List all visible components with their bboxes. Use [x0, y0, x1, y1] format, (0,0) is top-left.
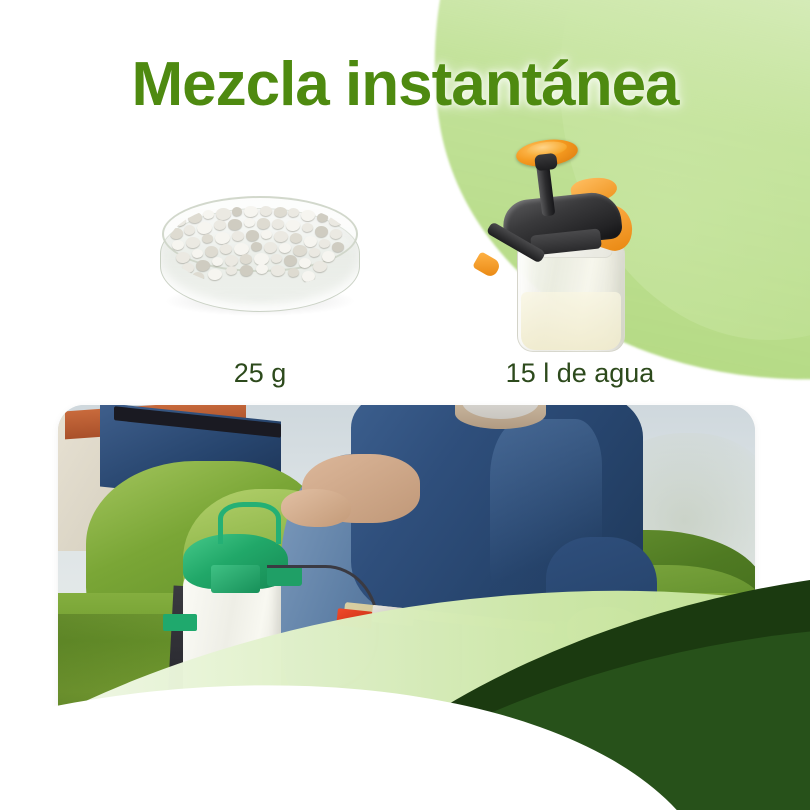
photo-sprayer-handle: [218, 502, 281, 544]
poster-canvas: Mezcla instantánea: [0, 0, 810, 810]
photo-sprayer-neck: [211, 565, 260, 593]
sprayer-knob-stem: [534, 153, 558, 172]
photo-sprayer-clip: [163, 614, 198, 631]
hand-pump-sprayer-bottle-icon: [475, 140, 685, 355]
page-title: Mezcla instantánea: [0, 52, 810, 117]
sprayer-nozzle: [472, 251, 502, 279]
ingredient-label-granules: 25 g: [130, 358, 390, 389]
photo-man-left-hand: [281, 489, 351, 527]
granule-cluster: [168, 202, 352, 288]
sprayer-liquid: [521, 292, 621, 350]
ingredient-label-water: 15 l de agua: [455, 358, 705, 389]
petri-dish-granules-icon: [160, 190, 360, 330]
